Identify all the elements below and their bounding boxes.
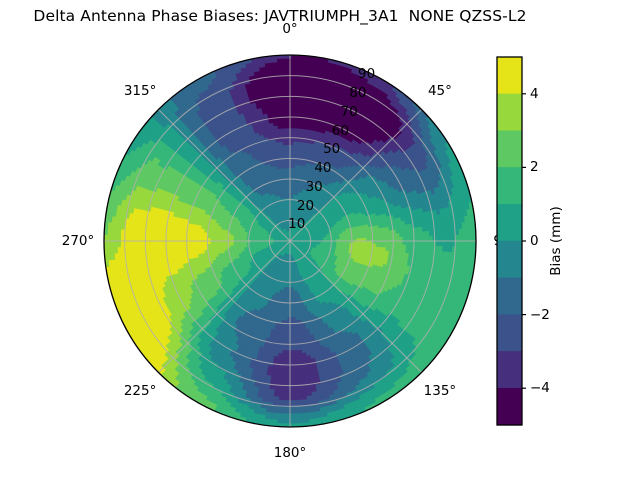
colorbar-tick-1: 2 <box>530 159 539 175</box>
colorbar-tick-0: 4 <box>530 86 539 102</box>
colorbar-swatches <box>497 57 522 425</box>
colorbar-axis-label: Bias (mm) <box>548 206 564 275</box>
colorbar-tick-2: 0 <box>530 233 539 249</box>
figure-canvas: Delta Antenna Phase Biases: JAVTRIUMPH_3… <box>0 0 640 480</box>
colorbar-tick-3: −2 <box>530 307 550 323</box>
colorbar <box>0 0 640 480</box>
colorbar-tick-4: −4 <box>530 380 550 396</box>
